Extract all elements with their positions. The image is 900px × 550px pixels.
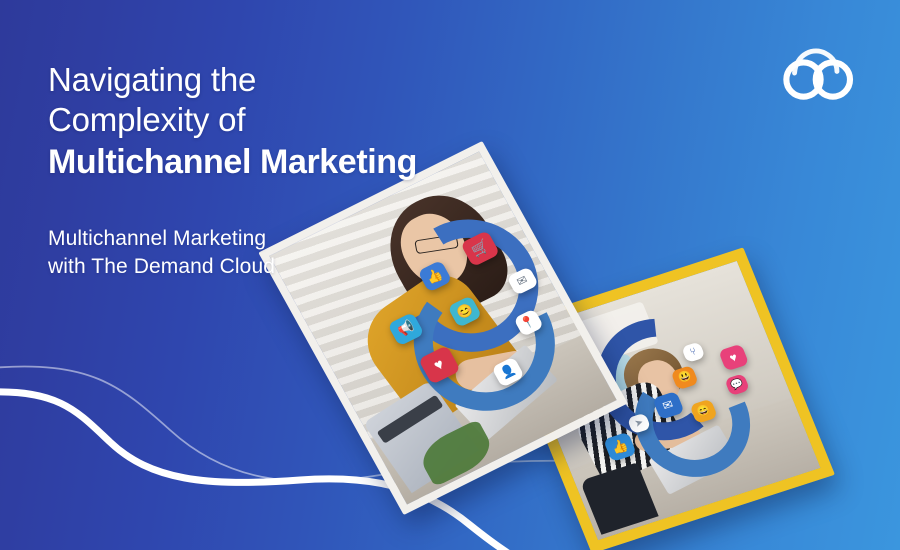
marketing-banner: Navigating the Complexity of Multichanne…: [0, 0, 900, 550]
subheadline-line-2: with The Demand Cloud: [48, 255, 275, 278]
headline-line-2: Complexity of: [48, 101, 245, 138]
headline-block: Navigating the Complexity of Multichanne…: [48, 60, 518, 281]
subheadline-line-1: Multichannel Marketing: [48, 227, 266, 250]
demand-cloud-logo[interactable]: [778, 42, 860, 104]
subheadline: Multichannel Marketing with The Demand C…: [48, 225, 518, 281]
headline-line-1: Navigating the: [48, 61, 256, 98]
page-title: Navigating the Complexity of Multichanne…: [48, 60, 518, 182]
headline-line-3-bold: Multichannel Marketing: [48, 142, 518, 182]
